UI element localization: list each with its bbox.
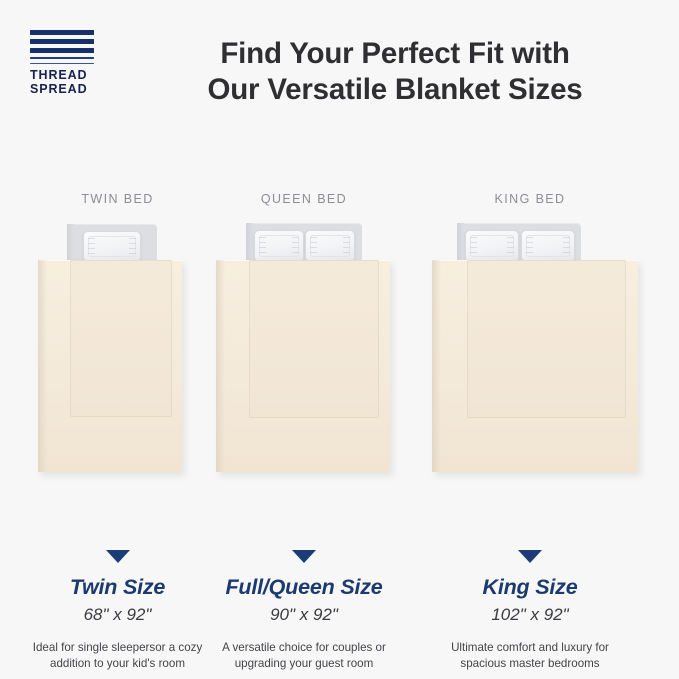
size-name: Full/Queen Size [213, 575, 395, 600]
triangle-down-icon [292, 550, 316, 563]
size-name: King Size [397, 575, 663, 600]
pillow-crease [470, 237, 477, 255]
pillow [305, 230, 355, 262]
blanket-inner-panel [249, 260, 379, 418]
blanket-queen [216, 260, 390, 472]
pillow-crease [259, 237, 266, 255]
size-dimensions: 90" x 92" [213, 605, 395, 625]
bed-type-label: KING BED [397, 192, 663, 206]
size-description: Ideal for single sleepersor a cozy addit… [29, 640, 207, 672]
page-title-line2: Our Versatile Blanket Sizes [135, 72, 655, 108]
brand-logo[interactable]: THREAD SPREAD [30, 30, 96, 96]
blanket-inner-panel [467, 260, 626, 418]
twin-bed-illustration [10, 220, 225, 535]
size-name: Twin Size [10, 575, 225, 600]
blanket-fold [216, 260, 225, 472]
logo-stripe [30, 48, 94, 53]
size-dimensions: 68" x 92" [10, 605, 225, 625]
blanket-twin [38, 260, 182, 472]
pillow [254, 230, 304, 262]
logo-stripe [30, 30, 94, 35]
size-comparison-row: TWIN BED Twin Size 68" x 92" Ideal for s… [0, 150, 679, 679]
size-column-queen: QUEEN BED Full/Queen [213, 150, 395, 679]
pillow-crease [292, 237, 299, 255]
brand-logo-line1: THREAD [30, 69, 96, 83]
queen-bed-illustration [213, 220, 395, 535]
pillow-crease [310, 237, 317, 255]
logo-stripe [30, 39, 94, 44]
page-title: Find Your Perfect Fit with Our Versatile… [135, 36, 655, 108]
pillow-crease [507, 237, 514, 255]
pillow [465, 230, 519, 262]
size-description: Ultimate comfort and luxury for spacious… [434, 640, 626, 672]
pillow [521, 230, 575, 262]
blanket-size-guide-page: THREAD SPREAD Find Your Perfect Fit with… [0, 0, 679, 679]
pillow-crease [526, 237, 533, 255]
pillow-crease [88, 238, 95, 255]
blanket-king [432, 260, 638, 472]
page-title-line1: Find Your Perfect Fit with [220, 37, 569, 70]
blanket-fold [432, 260, 441, 472]
logo-stripe [30, 57, 94, 59]
size-column-twin: TWIN BED Twin Size 68" x 92" Ideal for s… [10, 150, 225, 679]
page-header: THREAD SPREAD Find Your Perfect Fit with… [0, 0, 679, 150]
pillow-crease [129, 238, 136, 255]
bed-type-label: QUEEN BED [213, 192, 395, 206]
thread-spread-stripes-logo-icon [30, 30, 96, 64]
brand-logo-text: THREAD SPREAD [30, 69, 96, 96]
brand-logo-line2: SPREAD [30, 83, 96, 97]
size-column-king: KING BED King Size [397, 150, 663, 679]
size-dimensions: 102" x 92" [397, 605, 663, 625]
pillow-crease [563, 237, 570, 255]
size-description: A versatile choice for couples or upgrad… [210, 640, 398, 672]
triangle-down-icon [106, 550, 130, 563]
logo-stripe [30, 63, 94, 64]
bed-type-label: TWIN BED [10, 192, 225, 206]
pillow [83, 231, 141, 262]
pillow-crease [343, 237, 350, 255]
blanket-inner-panel [70, 260, 172, 417]
blanket-fold [38, 260, 47, 472]
triangle-down-icon [518, 550, 542, 563]
king-bed-illustration [397, 220, 663, 535]
